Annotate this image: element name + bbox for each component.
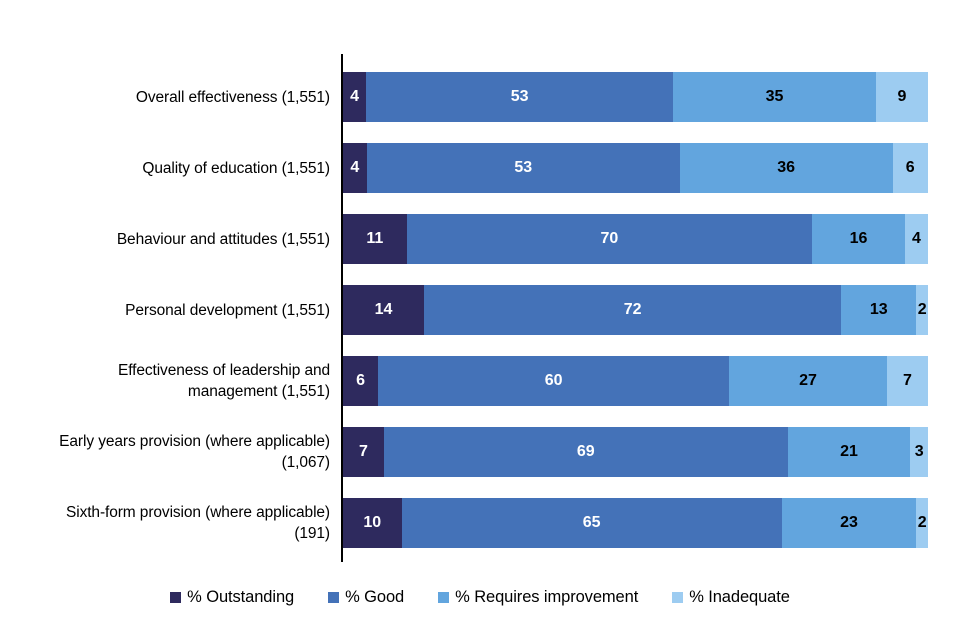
category-label: Overall effectiveness (1,551) [30,87,330,108]
bar-segment-good: 72 [424,285,841,335]
bar-segment-outstanding: 7 [343,427,384,477]
bar-segment-outstanding: 4 [343,143,367,193]
bar-segment-outstanding: 14 [343,285,424,335]
legend-label: % Requires improvement [455,588,638,607]
legend-item-outstanding[interactable]: % Outstanding [170,588,294,607]
bar-segment-requires: 16 [812,214,905,264]
category-label: Sixth-form provision (where applicable) … [30,502,330,544]
bar-segment-outstanding: 6 [343,356,378,406]
bar-segment-good: 53 [367,143,680,193]
bar-segment-requires: 27 [729,356,887,406]
bar-segment-good: 60 [378,356,729,406]
bar-segment-requires: 23 [782,498,917,548]
category-label: Quality of education (1,551) [30,158,330,179]
legend-item-good[interactable]: % Good [328,588,404,607]
bar-row: Personal development (1,551)1472132 [0,285,960,335]
stacked-bar: 1472132 [343,285,928,335]
bar-segment-inadequate: 4 [905,214,928,264]
bar-row: Quality of education (1,551)453366 [0,143,960,193]
legend-label: % Outstanding [187,588,294,607]
bar-segment-inadequate: 7 [887,356,928,406]
stacked-bar: 769213 [343,427,928,477]
legend-swatch-outstanding-icon [170,592,181,603]
category-label: Early years provision (where applicable)… [30,431,330,473]
bar-segment-inadequate: 2 [916,498,928,548]
bar-segment-requires: 36 [680,143,893,193]
bar-segment-inadequate: 2 [916,285,928,335]
stacked-bar-chart: Overall effectiveness (1,551)453359Quali… [0,0,960,640]
legend-label: % Inadequate [689,588,790,607]
bar-row: Effectiveness of leadership and manageme… [0,356,960,406]
bar-row: Overall effectiveness (1,551)453359 [0,72,960,122]
bar-segment-good: 65 [402,498,782,548]
bar-segment-outstanding: 10 [343,498,402,548]
legend-item-requires[interactable]: % Requires improvement [438,588,638,607]
legend-swatch-good-icon [328,592,339,603]
legend-swatch-requires-icon [438,592,449,603]
stacked-bar: 453366 [343,143,928,193]
bar-segment-requires: 13 [841,285,916,335]
bar-segment-outstanding: 4 [343,72,366,122]
stacked-bar: 1065232 [343,498,928,548]
bar-segment-good: 70 [407,214,812,264]
legend-label: % Good [345,588,404,607]
legend-item-inadequate[interactable]: % Inadequate [672,588,790,607]
bar-segment-requires: 35 [673,72,876,122]
stacked-bar: 453359 [343,72,928,122]
bar-segment-inadequate: 3 [910,427,928,477]
plot-area: Overall effectiveness (1,551)453359Quali… [0,48,960,568]
category-label: Effectiveness of leadership and manageme… [30,360,330,402]
stacked-bar: 1170164 [343,214,928,264]
bar-segment-outstanding: 11 [343,214,407,264]
bar-segment-inadequate: 6 [893,143,928,193]
legend-swatch-inadequate-icon [672,592,683,603]
category-label: Personal development (1,551) [30,300,330,321]
bar-row: Sixth-form provision (where applicable) … [0,498,960,548]
category-label: Behaviour and attitudes (1,551) [30,229,330,250]
bar-segment-good: 53 [366,72,673,122]
stacked-bar: 660277 [343,356,928,406]
bar-rows: Overall effectiveness (1,551)453359Quali… [0,48,960,568]
bar-segment-good: 69 [384,427,788,477]
chart-legend: % Outstanding% Good% Requires improvemen… [0,588,960,607]
bar-row: Behaviour and attitudes (1,551)1170164 [0,214,960,264]
bar-segment-inadequate: 9 [876,72,928,122]
bar-row: Early years provision (where applicable)… [0,427,960,477]
bar-segment-requires: 21 [788,427,911,477]
